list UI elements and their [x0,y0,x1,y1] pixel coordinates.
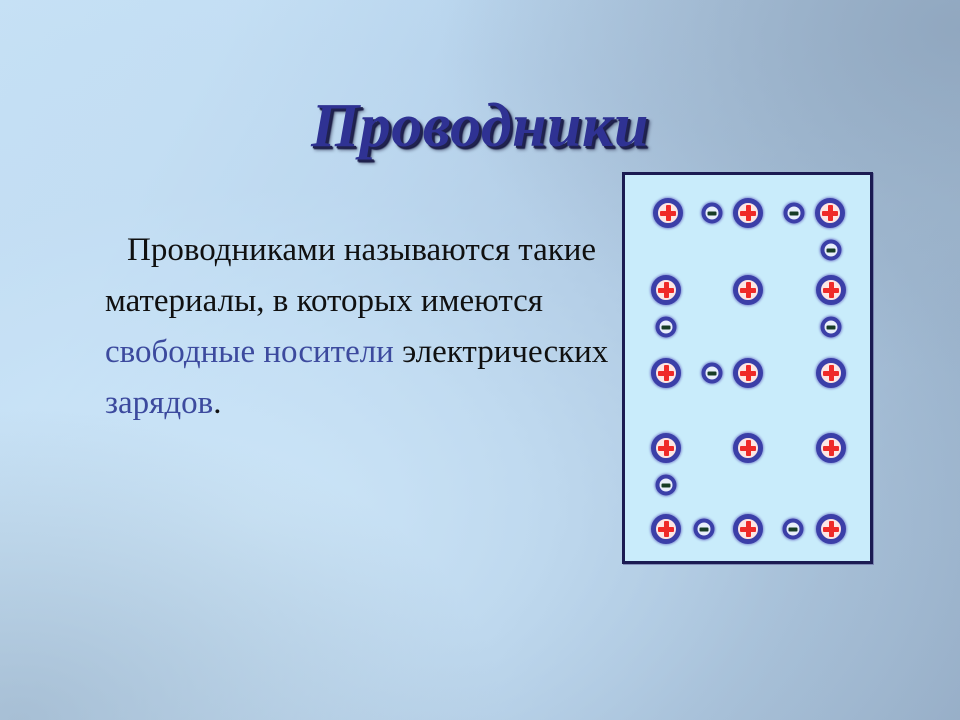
positive-charge-icon [651,514,681,544]
plus-sign-icon [658,365,674,381]
negative-charge-icon [656,317,677,338]
negative-charge-icon [821,240,842,261]
slide-body-text: Проводниками называются такие материалы,… [105,225,650,429]
conductor-diagram-panel [622,172,873,564]
plus-sign-icon [740,521,756,537]
positive-charge-icon [816,358,846,388]
negative-charge-icon [784,203,805,224]
plus-sign-icon [658,440,674,456]
slide-title: Проводники [0,94,960,159]
minus-sign-icon [827,325,836,329]
body-text-highlight: зарядов [105,385,213,421]
minus-sign-icon [662,483,671,487]
minus-sign-icon [662,325,671,329]
body-text-run: электрических [394,334,608,370]
conductor-diagram-particles [625,175,870,561]
positive-charge-icon [816,433,846,463]
positive-charge-icon [733,358,763,388]
negative-charge-icon [702,363,723,384]
minus-sign-icon [790,211,799,215]
negative-charge-icon [656,475,677,496]
plus-sign-icon [823,521,839,537]
body-text-run: Проводниками называются такие материалы,… [105,232,596,319]
body-text-run: . [213,385,221,421]
negative-charge-icon [702,203,723,224]
plus-sign-icon [658,282,674,298]
body-text-highlight: свободные носители [105,334,394,370]
minus-sign-icon [708,371,717,375]
plus-sign-icon [823,282,839,298]
plus-sign-icon [740,365,756,381]
plus-sign-icon [740,440,756,456]
positive-charge-icon [816,514,846,544]
plus-sign-icon [822,205,838,221]
minus-sign-icon [708,211,717,215]
minus-sign-icon [827,248,836,252]
presentation-slide: Проводники Проводниками называются такие… [0,0,960,720]
minus-sign-icon [789,527,798,531]
plus-sign-icon [823,440,839,456]
positive-charge-icon [816,275,846,305]
plus-sign-icon [740,282,756,298]
plus-sign-icon [823,365,839,381]
positive-charge-icon [651,275,681,305]
plus-sign-icon [660,205,676,221]
negative-charge-icon [694,519,715,540]
positive-charge-icon [815,198,845,228]
positive-charge-icon [733,433,763,463]
plus-sign-icon [740,205,756,221]
positive-charge-icon [733,514,763,544]
positive-charge-icon [733,198,763,228]
plus-sign-icon [658,521,674,537]
positive-charge-icon [733,275,763,305]
positive-charge-icon [651,358,681,388]
negative-charge-icon [821,317,842,338]
negative-charge-icon [783,519,804,540]
minus-sign-icon [700,527,709,531]
positive-charge-icon [653,198,683,228]
positive-charge-icon [651,433,681,463]
